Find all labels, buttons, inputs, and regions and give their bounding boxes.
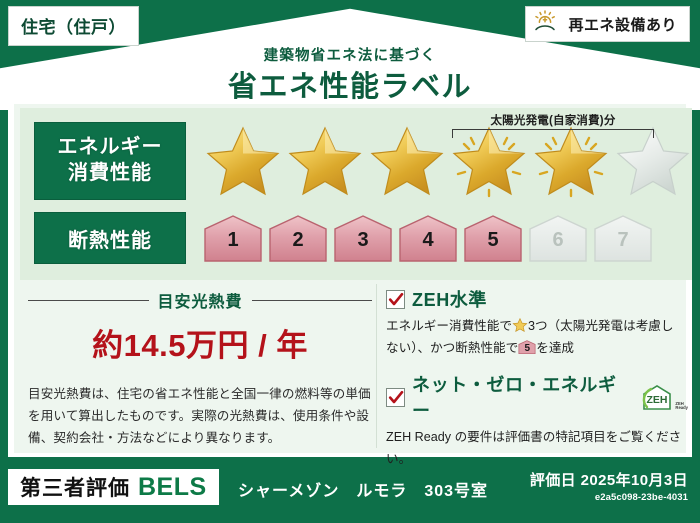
insulation-performance-row: 断熱性能 — [34, 212, 654, 264]
insulation-level-4-number: 4 — [397, 229, 459, 252]
insulation-level-scale: 1 2 3 — [202, 213, 654, 263]
sun-icon — [534, 10, 560, 39]
energy-performance-label: エネルギー 消費性能 — [34, 122, 186, 200]
svg-text:ZEH: ZEH — [647, 394, 668, 406]
footer-bar: 第三者評価 BELS シャーメゾン ルモラ 303号室 評価日 2025年10月… — [0, 461, 700, 523]
performance-area: 太陽光発電(自家消費)分 エネルギー 消費性能 — [20, 108, 692, 280]
insulation-level-1-number: 1 — [202, 229, 264, 252]
utility-cost-heading: 目安光熱費 — [28, 288, 372, 312]
building-name: シャーメゾン ルモラ 303号室 — [238, 477, 488, 501]
main-card: 太陽光発電(自家消費)分 エネルギー 消費性能 — [8, 100, 692, 457]
house-type-tag: 住宅（住戸） — [8, 6, 139, 46]
insulation-performance-label: 断熱性能 — [34, 212, 186, 264]
zeh-standard-body: エネルギー消費性能で3つ（太陽光発電は考慮しない）、かつ断熱性能で5を達成 — [386, 316, 686, 359]
zeh-ready-logo-icon: ZEH ZEHReady — [640, 383, 686, 411]
star-5-filled-solar — [530, 122, 612, 200]
zeh-ready-sublabel: ZEHReady — [675, 402, 688, 412]
evaluation-info: 評価日 2025年10月3日 e2a5c098-23be-4031 — [530, 469, 688, 503]
zeh-standard-checkbox[interactable] — [386, 290, 405, 309]
heading-rule-right — [252, 300, 373, 301]
evaluation-id: e2a5c098-23be-4031 — [530, 492, 688, 503]
net-zero-checkbox[interactable] — [386, 388, 405, 407]
star-6-empty — [612, 122, 694, 200]
bels-tag-en: BELS — [138, 473, 207, 502]
energy-performance-label: 住宅（住戸） 再エネ設備あり 建築物省エネ法に基づく 省エネ性能ラベル — [0, 0, 700, 523]
label-subtitle: 建築物省エネ法に基づく — [0, 44, 700, 65]
insulation-level-4: 4 — [397, 213, 459, 263]
certification-net-zero-energy: ネット・ゼロ・エネルギー ZEH ZEHReady ZEH Ready の要件 — [386, 371, 686, 470]
insulation-level-5-achieved: 5 — [462, 213, 524, 263]
insulation-level-7: 7 — [592, 213, 654, 263]
energy-label-line2: 消費性能 — [68, 161, 152, 187]
utility-cost-note: 目安光熱費は、住宅の省エネ性能と全国一律の燃料等の単価を用いて算出したものです。… — [28, 383, 372, 449]
utility-cost-column: 目安光熱費 約14.5万円 / 年 目安光熱費は、住宅の省エネ性能と全国一律の燃… — [28, 280, 372, 449]
renewable-equipment-badge: 再エネ設備あり — [525, 6, 690, 42]
zeh-standard-title: ZEH水準 — [412, 286, 487, 312]
insulation-level-7-number: 7 — [592, 229, 654, 252]
page-title: 省エネ性能ラベル — [0, 63, 700, 105]
bels-tag-jp: 第三者評価 — [20, 472, 130, 502]
net-zero-header: ネット・ゼロ・エネルギー ZEH ZEHReady — [386, 371, 686, 423]
insulation-level-3-number: 3 — [332, 229, 394, 252]
insulation-level-3: 3 — [332, 213, 394, 263]
insulation-level-5-number: 5 — [462, 229, 524, 252]
star-2-filled — [284, 122, 366, 200]
certification-column: ZEH水準 エネルギー消費性能で3つ（太陽光発電は考慮しない）、かつ断熱性能で5… — [386, 286, 686, 483]
insulation-level-2-number: 2 — [267, 229, 329, 252]
heading-rule-left — [28, 300, 149, 301]
column-divider — [376, 284, 377, 448]
zeh-standard-header: ZEH水準 — [386, 286, 686, 312]
inline-house-icon: 5 — [518, 339, 536, 355]
lower-content: 目安光熱費 約14.5万円 / 年 目安光熱費は、住宅の省エネ性能と全国一律の燃… — [20, 280, 692, 457]
main-card-inner: 太陽光発電(自家消費)分 エネルギー 消費性能 — [14, 104, 686, 453]
insulation-level-6-number: 6 — [527, 229, 589, 252]
zeh-body-part3: を達成 — [536, 341, 574, 355]
utility-cost-heading-text: 目安光熱費 — [149, 288, 252, 312]
bels-certification-tag: 第三者評価 BELS — [8, 469, 219, 505]
star-4-filled-solar — [448, 122, 530, 200]
energy-label-line1: エネルギー — [58, 135, 163, 161]
inline-house-number: 5 — [518, 340, 536, 357]
zeh-body-part1: エネルギー消費性能で — [386, 319, 512, 333]
inline-star-icon — [512, 317, 528, 333]
energy-performance-row: エネルギー 消費性能 — [34, 122, 694, 200]
net-zero-title: ネット・ゼロ・エネルギー — [412, 371, 633, 423]
evaluation-date: 評価日 2025年10月3日 — [530, 469, 688, 490]
star-1-filled — [202, 122, 284, 200]
insulation-level-6: 6 — [527, 213, 589, 263]
insulation-level-2: 2 — [267, 213, 329, 263]
utility-cost-value: 約14.5万円 / 年 — [28, 320, 372, 365]
insulation-level-1: 1 — [202, 213, 264, 263]
energy-star-rating — [202, 122, 694, 200]
renewable-badge-label: 再エネ設備あり — [568, 14, 677, 35]
certification-zeh-standard: ZEH水準 エネルギー消費性能で3つ（太陽光発電は考慮しない）、かつ断熱性能で5… — [386, 286, 686, 359]
star-3-filled — [366, 122, 448, 200]
